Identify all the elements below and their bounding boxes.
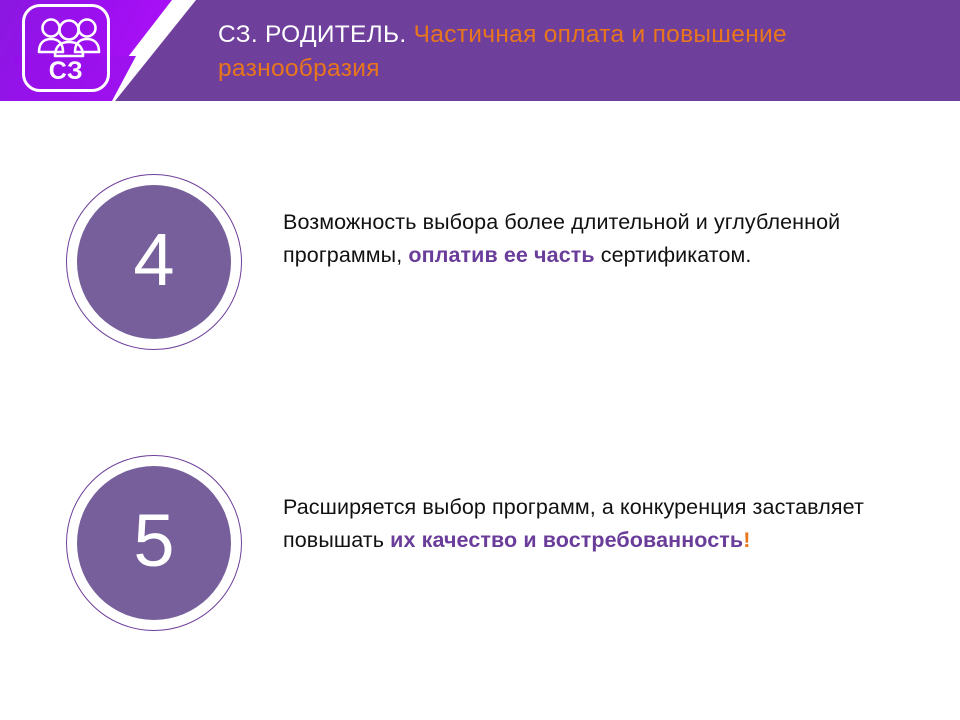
people-group-icon — [37, 17, 101, 59]
slide-root: СЗ СЗ. РОДИТЕЛЬ. Частичная оплата и повы… — [0, 0, 960, 720]
slide-header: СЗ СЗ. РОДИТЕЛЬ. Частичная оплата и повы… — [0, 0, 960, 101]
number-badge: 5 — [66, 455, 242, 631]
logo-tile: СЗ — [22, 4, 110, 92]
text-segment-accent: ! — [743, 528, 750, 552]
text-segment-highlight: оплатив ее часть — [408, 243, 594, 267]
number-badge-fill: 4 — [77, 185, 231, 339]
text-segment-highlight: их качество и востребованность — [390, 528, 743, 552]
list-item-text: Расширяется выбор программ, а конкуренци… — [283, 491, 893, 557]
number-badge-label: 4 — [77, 185, 231, 339]
logo-abbreviation: СЗ — [25, 57, 107, 85]
text-segment-normal-2: сертификатом. — [595, 243, 752, 267]
title-primary: СЗ. РОДИТЕЛЬ. — [218, 21, 407, 48]
number-badge-fill: 5 — [77, 466, 231, 620]
number-badge-label: 5 — [77, 466, 231, 620]
list-item-text: Возможность выбора более длительной и уг… — [283, 206, 883, 272]
page-title: СЗ. РОДИТЕЛЬ. Частичная оплата и повышен… — [218, 18, 918, 86]
number-badge: 4 — [66, 174, 242, 350]
